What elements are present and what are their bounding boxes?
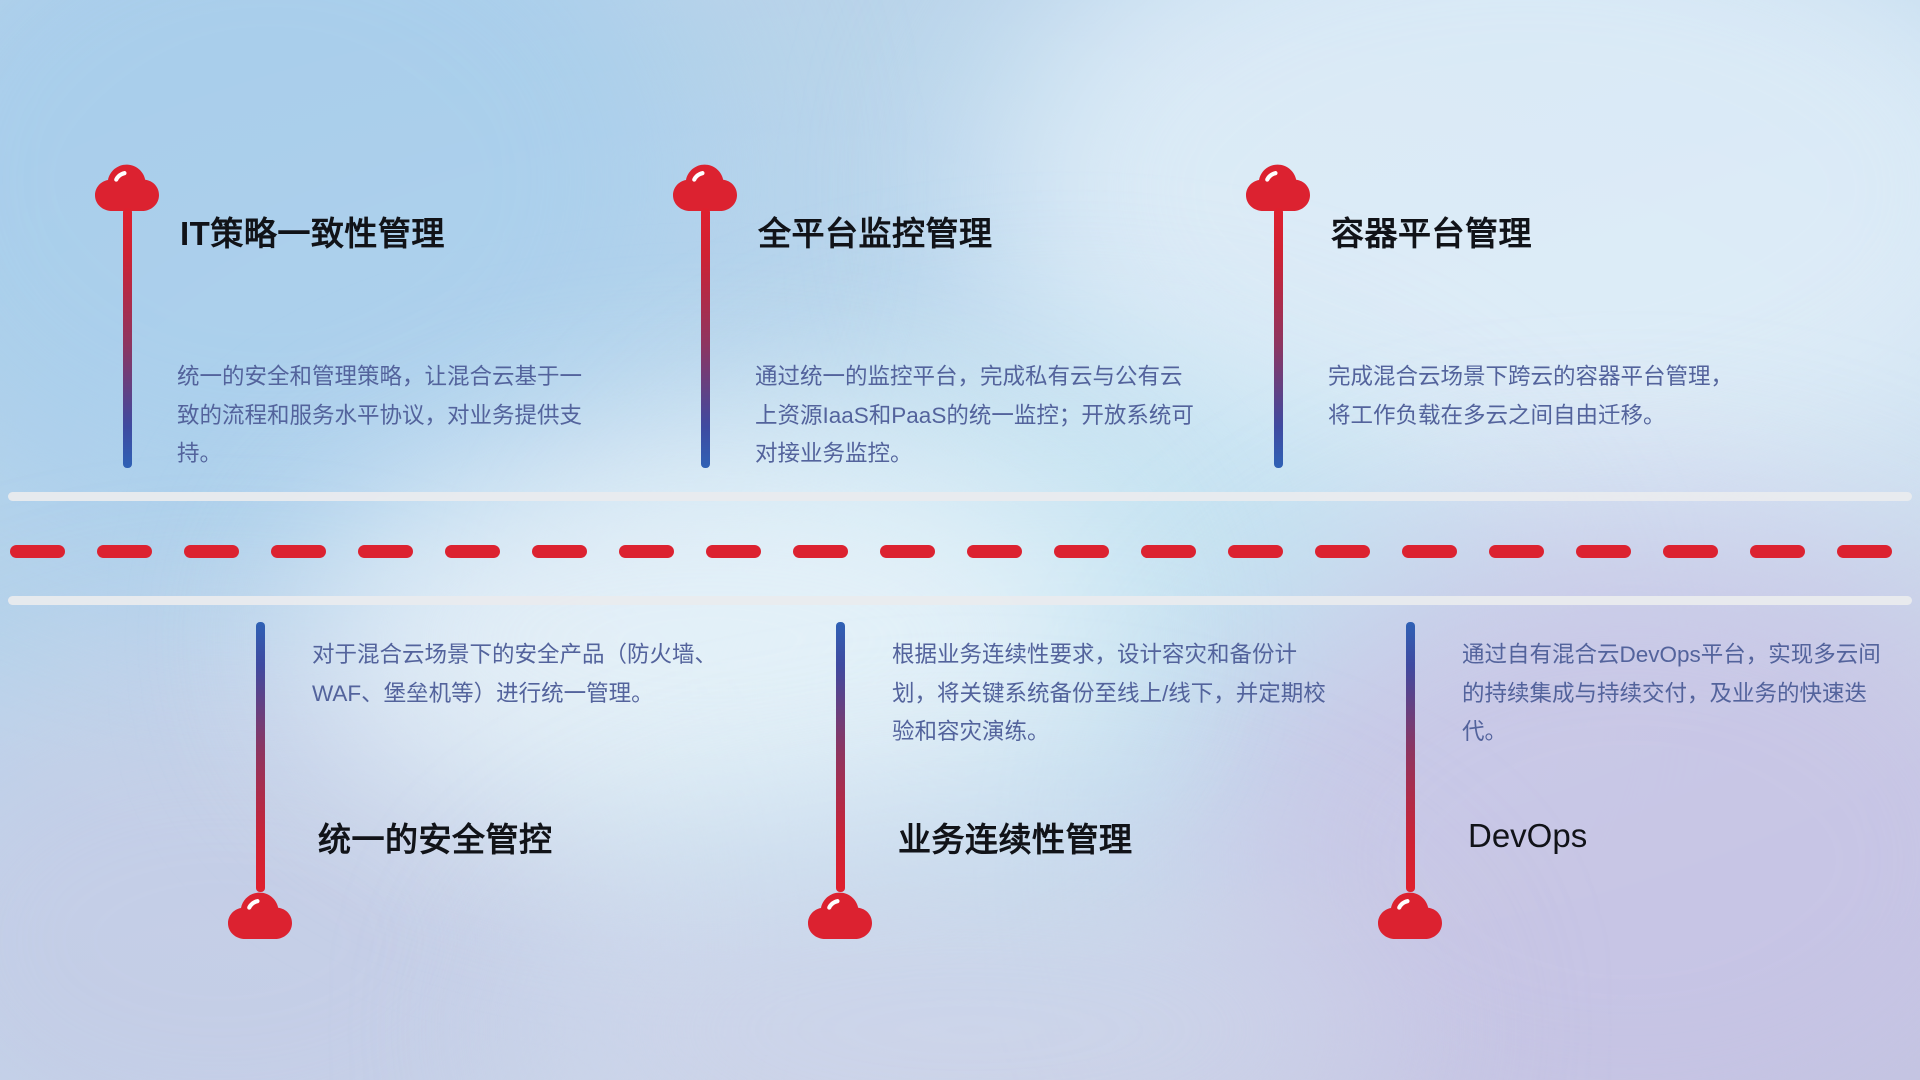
feature-description: 对于混合云场景下的安全产品（防火墙、WAF、堡垒机等）进行统一管理。 bbox=[312, 636, 732, 713]
connector-stem bbox=[123, 208, 132, 468]
feature-heading: IT策略一致性管理 bbox=[180, 216, 445, 252]
divider-dash bbox=[445, 545, 500, 558]
infographic-canvas: IT策略一致性管理 统一的安全和管理策略，让混合云基于一致的流程和服务水平协议，… bbox=[0, 0, 1920, 1080]
connector-stem bbox=[1274, 208, 1283, 468]
cloud-icon bbox=[1243, 160, 1315, 212]
feature-heading: 容器平台管理 bbox=[1331, 216, 1532, 252]
divider-dash bbox=[1663, 545, 1718, 558]
feature-description: 通过自有混合云DevOps平台，实现多云间的持续集成与持续交付，及业务的快速迭代… bbox=[1462, 636, 1882, 752]
feature-description: 通过统一的监控平台，完成私有云与公有云上资源IaaS和PaaS的统一监控；开放系… bbox=[755, 358, 1195, 474]
divider-dash bbox=[1228, 545, 1283, 558]
feature-heading: 业务连续性管理 bbox=[898, 822, 1133, 858]
connector-stem bbox=[1406, 622, 1415, 892]
divider-dash bbox=[1141, 545, 1196, 558]
feature-heading: 统一的安全管控 bbox=[318, 822, 553, 858]
divider-dash bbox=[1489, 545, 1544, 558]
divider-dash bbox=[10, 545, 65, 558]
connector-stem bbox=[701, 208, 710, 468]
divider-dash bbox=[358, 545, 413, 558]
divider-dash bbox=[1837, 545, 1892, 558]
divider-dash bbox=[967, 545, 1022, 558]
cloud-icon bbox=[670, 160, 742, 212]
feature-heading: 全平台监控管理 bbox=[758, 216, 993, 252]
divider-dash bbox=[706, 545, 761, 558]
divider-dash bbox=[1576, 545, 1631, 558]
divider-dash bbox=[97, 545, 152, 558]
divider-dash bbox=[184, 545, 239, 558]
feature-description: 完成混合云场景下跨云的容器平台管理，将工作负载在多云之间自由迁移。 bbox=[1328, 358, 1748, 435]
cloud-icon bbox=[805, 888, 877, 940]
connector-stem bbox=[836, 622, 845, 892]
feature-description: 统一的安全和管理策略，让混合云基于一致的流程和服务水平协议，对业务提供支持。 bbox=[177, 358, 597, 474]
divider-dash bbox=[1402, 545, 1457, 558]
cloud-icon bbox=[1375, 888, 1447, 940]
divider-dash bbox=[1054, 545, 1109, 558]
divider-dash bbox=[793, 545, 848, 558]
feature-heading: DevOps bbox=[1468, 818, 1587, 854]
divider-dashed-line bbox=[10, 545, 1920, 558]
feature-description: 根据业务连续性要求，设计容灾和备份计划，将关键系统备份至线上/线下，并定期校验和… bbox=[892, 636, 1332, 752]
connector-stem bbox=[256, 622, 265, 892]
divider-rule-bottom bbox=[8, 596, 1912, 605]
divider-rule-top bbox=[8, 492, 1912, 501]
divider-dash bbox=[1315, 545, 1370, 558]
cloud-icon bbox=[92, 160, 164, 212]
cloud-icon bbox=[225, 888, 297, 940]
divider-dash bbox=[271, 545, 326, 558]
divider-dash bbox=[1750, 545, 1805, 558]
divider-dash bbox=[532, 545, 587, 558]
divider-dash bbox=[619, 545, 674, 558]
divider-dash bbox=[880, 545, 935, 558]
